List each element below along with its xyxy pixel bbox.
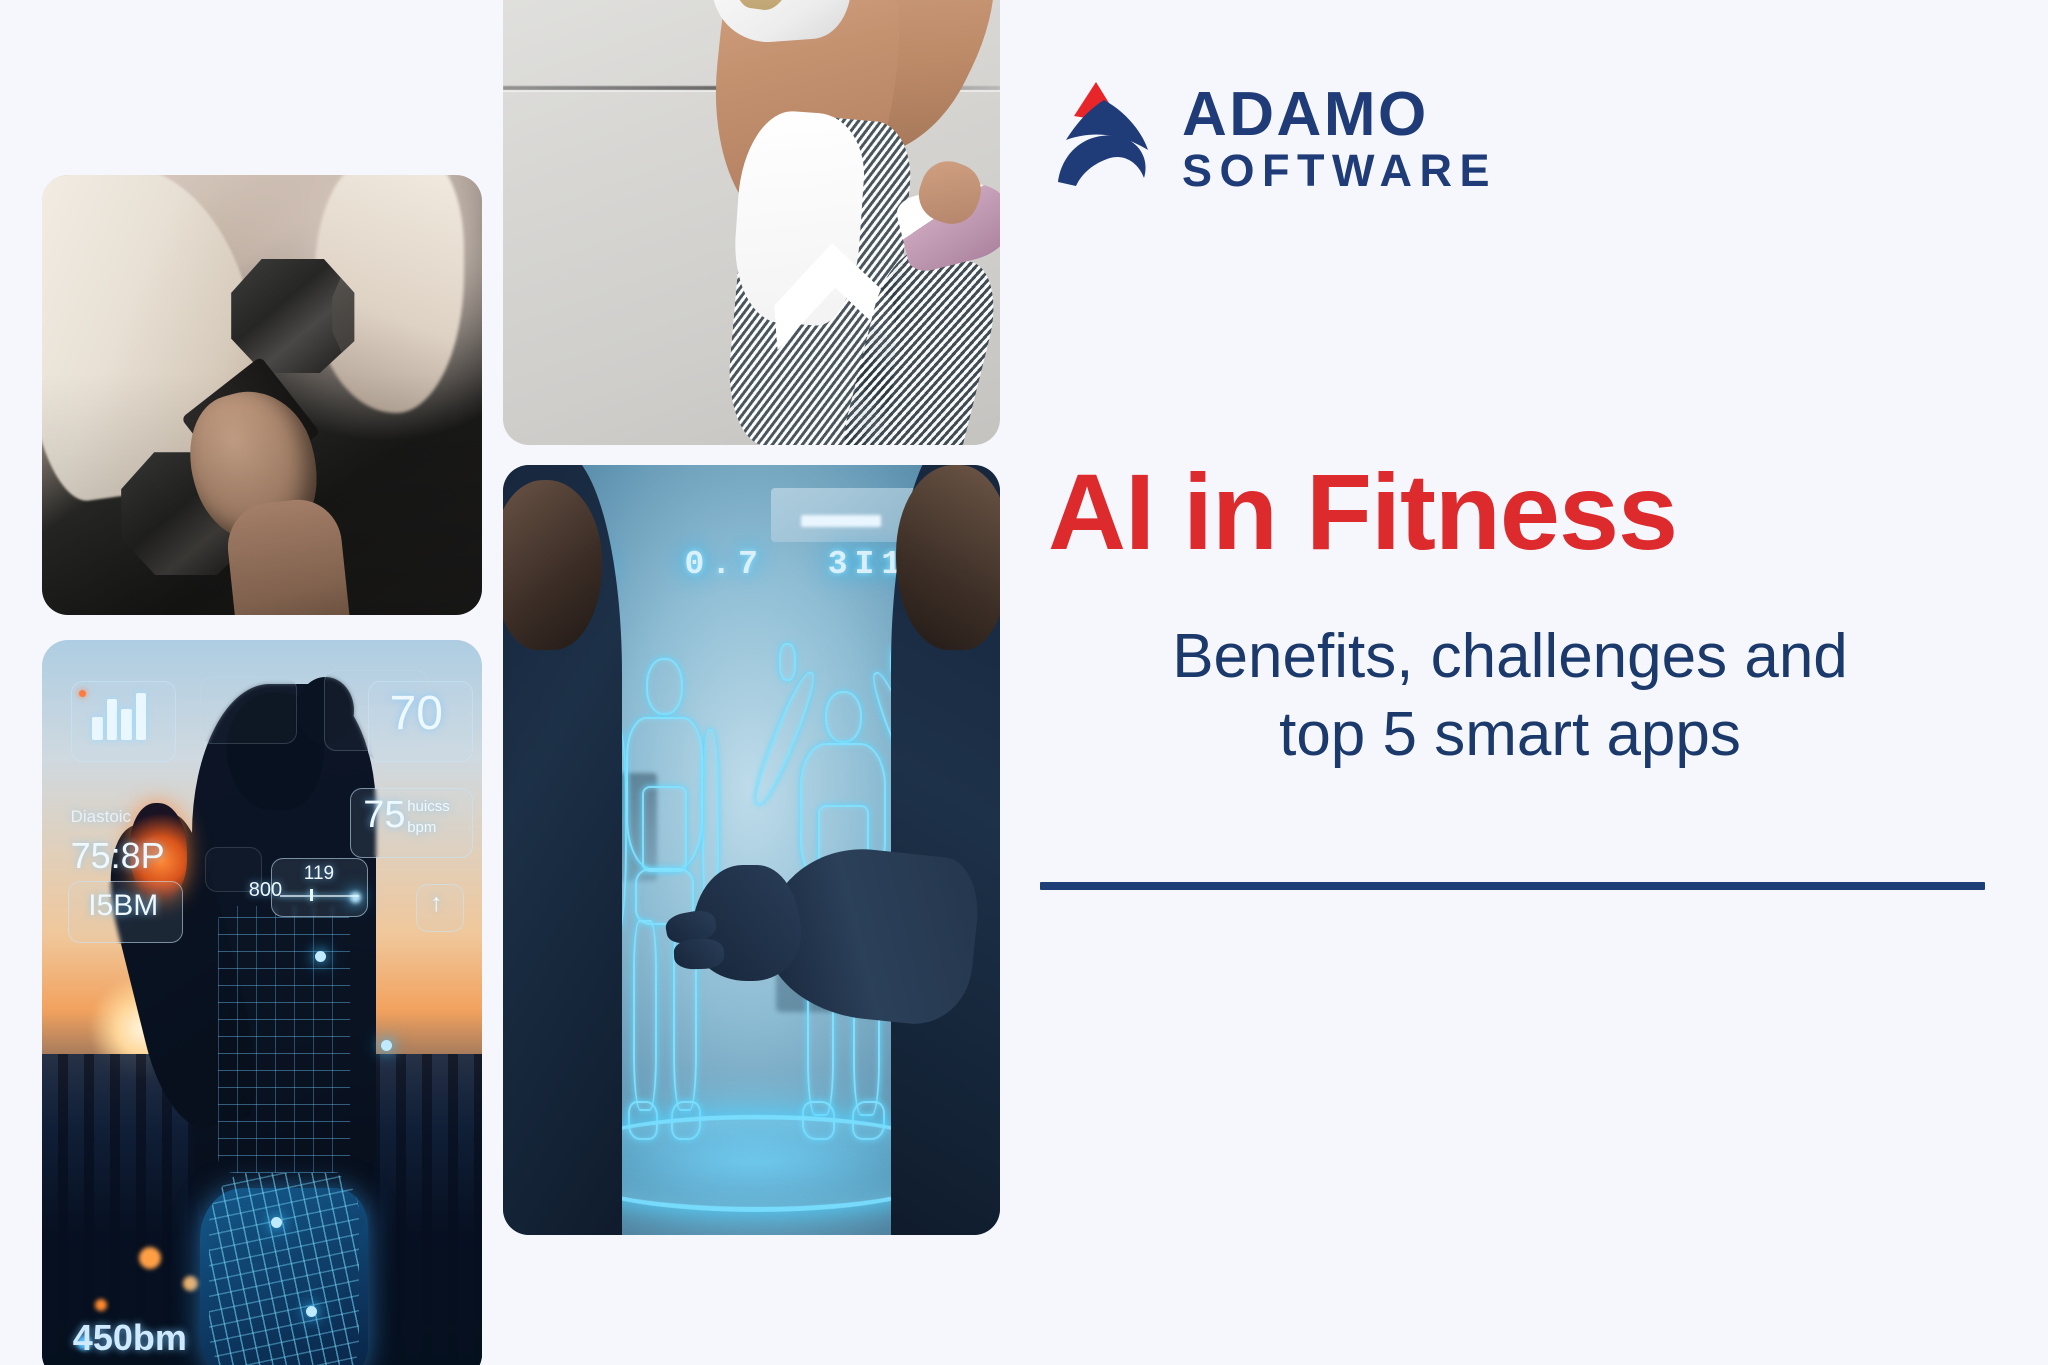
bar-chart-icon [121, 709, 131, 741]
hud-score-value: 70 [390, 686, 443, 741]
tracking-node [271, 1217, 282, 1228]
poster-canvas: AL 0.7 3I11 [0, 0, 2048, 1365]
image-card-ai-hologram: AL 0.7 3I11 [503, 465, 1000, 1235]
hud-torso-slider-handle [310, 889, 313, 901]
hud-heart-rate-value: 75 [363, 794, 405, 837]
hud-torso-value: 119 [304, 863, 334, 885]
hologram-readout-value: 0.7 [684, 546, 764, 583]
bar-chart-icon [107, 699, 117, 740]
person-right-hand [692, 865, 801, 981]
body-wireframe-overlay [218, 906, 350, 1172]
bokeh-light [139, 1247, 161, 1269]
horizontal-divider [1040, 882, 1985, 890]
tracking-node [315, 951, 326, 962]
bar-chart-icon [92, 717, 102, 741]
brand-logo[interactable]: ADAMO SOFTWARE [1052, 78, 1522, 188]
hud-diastolic-value: 75:8P [71, 835, 165, 877]
image-card-dumbbell [42, 175, 482, 615]
record-dot-icon [79, 690, 86, 697]
hud-panel-chart [71, 681, 177, 762]
person-right-head [896, 465, 1000, 650]
hud-panel-ghost [200, 677, 297, 744]
hud-shoulder-value: 800 [249, 879, 282, 902]
adamo-sail-mark-icon [1052, 78, 1156, 188]
brand-tagline: SOFTWARE [1182, 146, 1497, 196]
arrow-up-icon: ↑ [430, 889, 443, 918]
page-title: AI in Fitness [1048, 458, 1677, 566]
page-subtitle-line-1: Benefits, challenges and [1040, 618, 1980, 696]
hologram-platform [572, 1115, 940, 1212]
hud-bmi-value: I5BM [88, 889, 158, 923]
tracking-node [306, 1306, 317, 1317]
brand-name: ADAMO [1182, 84, 1497, 146]
hud-bottom-value: 450bm [73, 1317, 187, 1359]
image-vignette [42, 175, 482, 615]
figure-leg-left [633, 920, 657, 1111]
bar-chart-icon [136, 693, 146, 741]
image-card-fitness-hud: 70 75 huicss bpm Diastoic 75:8P I5BM 119… [42, 640, 482, 1365]
brand-logo-text: ADAMO SOFTWARE [1182, 84, 1497, 196]
figure2-fist-left [779, 643, 796, 681]
figure-head [646, 658, 683, 715]
hud-torso-slider [280, 895, 359, 897]
figure-abs [642, 786, 688, 872]
hud-heart-rate-unit-1: huicss [407, 798, 450, 815]
hud-diastolic-label: Diastoic [71, 807, 131, 827]
leg-wireframe-overlay [209, 1173, 359, 1365]
page-subtitle-line-2: top 5 smart apps [1040, 696, 1980, 774]
ceiling-light [801, 515, 881, 527]
image-card-stretching [503, 0, 1000, 445]
person-left-head [503, 480, 602, 649]
hud-heart-rate-unit-2: bpm [407, 819, 436, 836]
bokeh-light [95, 1299, 107, 1311]
tracking-node [381, 1040, 392, 1051]
figure2-head [825, 691, 863, 744]
page-subtitle: Benefits, challenges and top 5 smart app… [1040, 618, 1980, 773]
